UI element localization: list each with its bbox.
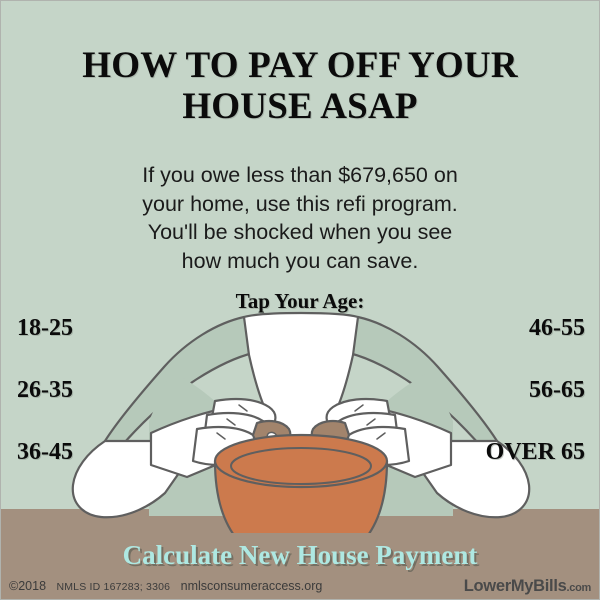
brand-name-text: LowerMyBills (464, 577, 567, 595)
body-line-2: your home, use this refi program. (1, 190, 599, 219)
age-option-56-65[interactable]: 56-65 (415, 373, 585, 435)
age-option-18-25[interactable]: 18-25 (17, 311, 187, 373)
copyright-text: ©2018 (9, 579, 46, 593)
age-options-left: 18-25 26-35 36-45 (17, 311, 187, 497)
headline-line-1: HOW TO PAY OFF YOUR (82, 45, 518, 86)
advertisement-banner: HOW TO PAY OFF YOUR HOUSE ASAP If you ow… (0, 0, 600, 600)
body-copy: If you owe less than $679,650 on your ho… (1, 161, 599, 275)
age-options-right: 46-55 56-65 OVER 65 (415, 311, 585, 497)
legal-disclaimer: ©2018 NMLS ID 167283; 3306 nmlsconsumera… (9, 579, 322, 593)
age-option-over-65[interactable]: OVER 65 (415, 435, 585, 497)
calculate-payment-button[interactable]: Calculate New House Payment (1, 535, 599, 575)
age-option-36-45[interactable]: 36-45 (17, 435, 187, 497)
nmls-consumer-access-link[interactable]: nmlsconsumeraccess.org (181, 579, 323, 593)
lowermybills-logo[interactable]: LowerMyBills.com (464, 577, 591, 596)
headline-line-2: HOUSE ASAP (1, 86, 599, 127)
age-option-46-55[interactable]: 46-55 (415, 311, 585, 373)
age-option-26-35[interactable]: 26-35 (17, 373, 187, 435)
body-line-3: You'll be shocked when you see (1, 218, 599, 247)
page-title: HOW TO PAY OFF YOUR HOUSE ASAP (1, 45, 599, 128)
brand-suffix-text: .com (567, 582, 591, 594)
body-line-1: If you owe less than $679,650 on (1, 161, 599, 190)
nmls-id-text: NMLS ID 167283; 3306 (56, 581, 170, 593)
body-line-4: how much you can save. (1, 247, 599, 276)
